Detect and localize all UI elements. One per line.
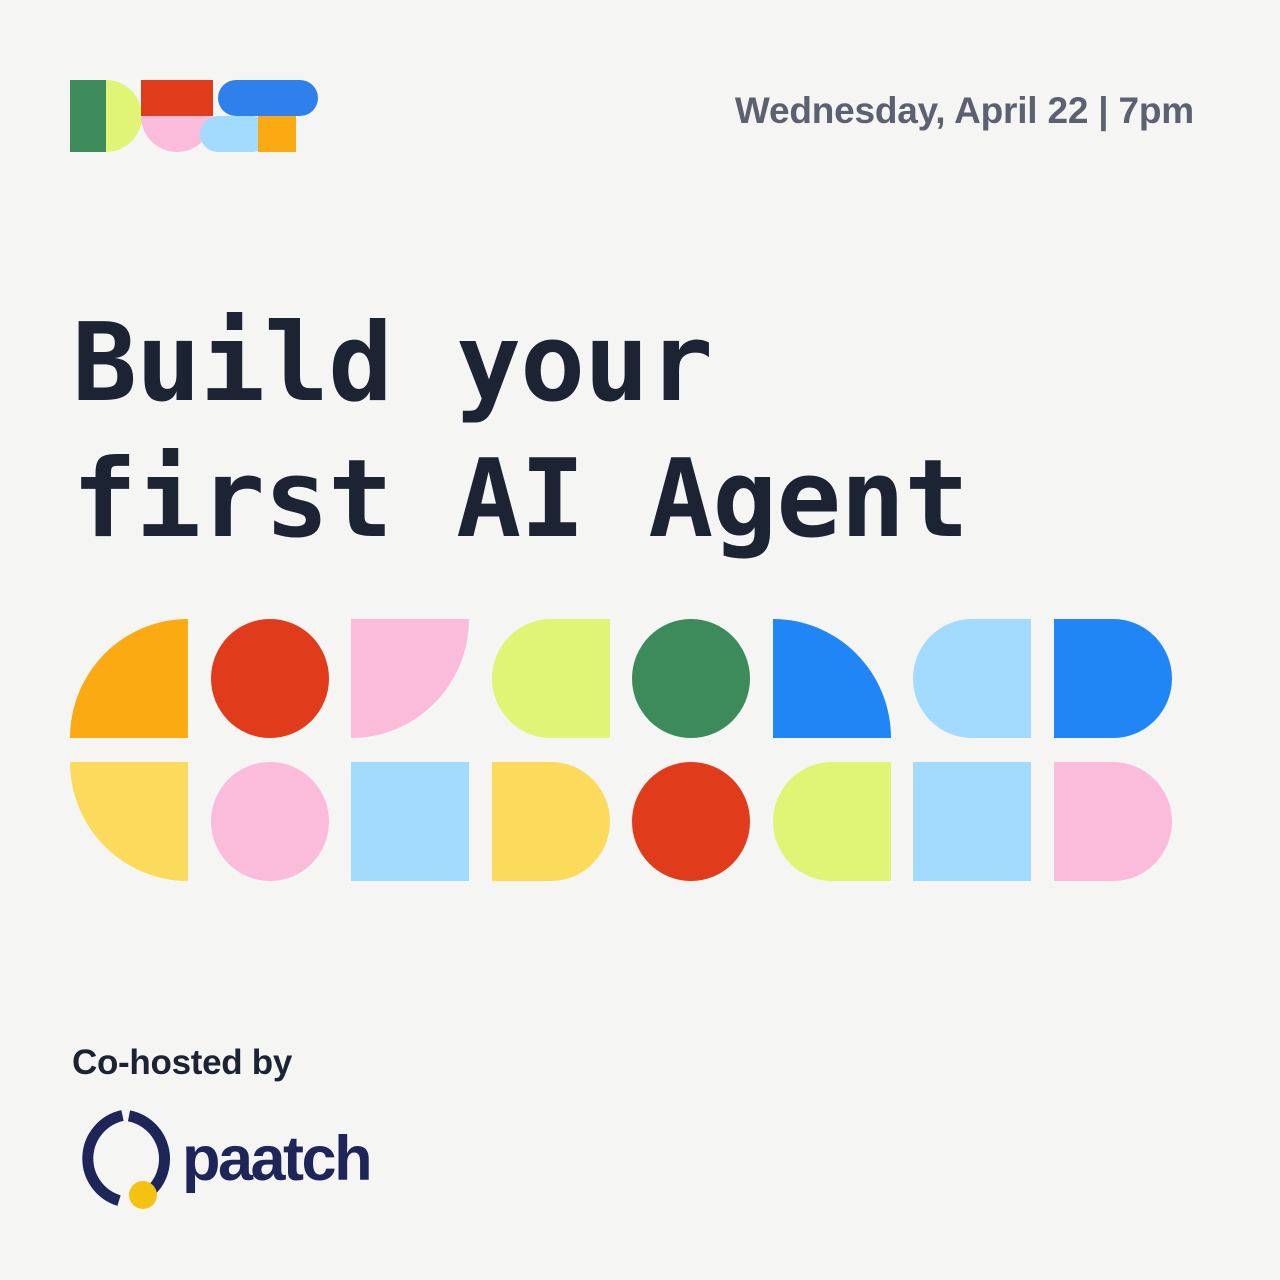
shape-r2c6-half-circle [773, 762, 891, 881]
paatch-logo[interactable]: paatch [72, 1108, 370, 1212]
shape-r2c5-circle [632, 762, 750, 881]
page-header: Wednesday, April 22 | 7pm [70, 78, 1194, 154]
paatch-ring-major-arc [88, 1116, 123, 1201]
shape-r1c6-quarter-circle [773, 619, 891, 738]
paatch-ring-icon [72, 1108, 176, 1212]
page-title: Build your first AI Agent [72, 296, 1202, 568]
dust-logo[interactable] [70, 78, 318, 152]
shape-r1c3-quarter-circle [351, 619, 469, 738]
dust-letter-s-blue-pill [218, 80, 318, 116]
shape-r2c2-circle [211, 762, 329, 881]
decorative-shape-grid [70, 619, 1194, 881]
shape-r2c1-quarter-circle [70, 762, 188, 881]
event-date: Wednesday, April 22 | 7pm [735, 92, 1194, 129]
shape-r1c7-half-circle [913, 619, 1031, 738]
shape-r2c3-square [351, 762, 469, 881]
dust-letter-d-green-bar [70, 80, 106, 152]
dust-letter-t-orange-stem [258, 116, 296, 152]
page-footer: Co-hosted by paatch [72, 1045, 370, 1212]
shape-r1c1-quarter-circle [70, 619, 188, 738]
headline-line-1: Build your [72, 296, 1202, 432]
shape-r2c4-half-circle [492, 762, 610, 881]
paatch-ring-minor-arc [129, 1116, 165, 1189]
shape-r2c7-square [913, 762, 1031, 881]
dust-letter-d-lime-arc [106, 80, 142, 152]
shape-r1c2-circle [211, 619, 329, 738]
shape-r1c5-circle [632, 619, 750, 738]
cohost-label: Co-hosted by [72, 1045, 370, 1080]
dust-letter-u-red-bar [141, 80, 213, 116]
paatch-wordmark: paatch [182, 1128, 370, 1191]
shape-row [70, 762, 1194, 881]
shape-r2c8-half-circle [1054, 762, 1172, 881]
shape-r1c4-half-circle [492, 619, 610, 738]
dust-logo-svg [70, 78, 318, 152]
shape-row [70, 619, 1194, 738]
paatch-gold-dot [129, 1181, 157, 1209]
shape-r1c8-half-circle [1054, 619, 1172, 738]
headline-line-2: first AI Agent [72, 432, 1202, 568]
